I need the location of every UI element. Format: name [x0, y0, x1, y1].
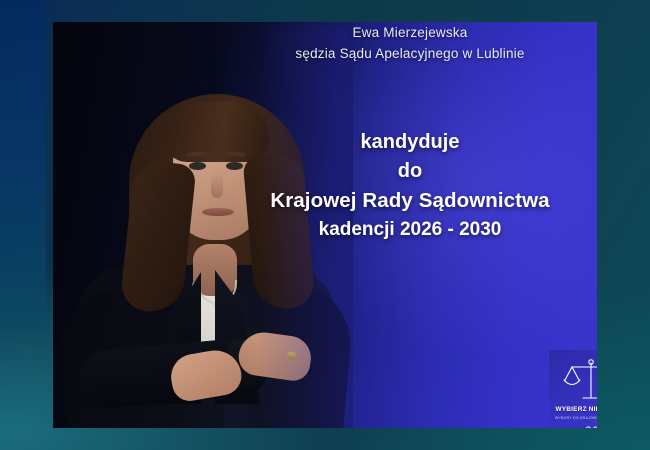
logo-title: WYBIERZ NIEZALEŻNOŚCI — [549, 406, 597, 413]
poster-frame: WYBIERZ NIEZALEŻNOŚCI WYBORY DO KRAJOWEJ… — [0, 0, 650, 450]
portrait-eye-left — [189, 162, 206, 170]
portrait-mouth — [202, 208, 234, 216]
campaign-headline: kandyduje do Krajowej Rady Sądownictwa k… — [238, 128, 582, 244]
logo-subtitle: WYBORY DO KRAJOWEJ RADY SĄDOWNICTWA — [549, 416, 597, 420]
headline-line-3: Krajowej Rady Sądownictwa — [238, 186, 582, 215]
headline-line-4: kadencji 2026 - 2030 — [238, 215, 582, 244]
portrait-nose — [211, 172, 223, 198]
candidate-role: sędzia Sądu Apelacyjnego w Lublinie — [250, 43, 570, 64]
headline-line-2: do — [238, 157, 582, 186]
candidate-header: Ewa Mierzejewska sędzia Sądu Apelacyjneg… — [250, 22, 570, 64]
campaign-logo: WYBIERZ NIEZALEŻNOŚCI WYBORY DO KRAJOWEJ… — [549, 350, 597, 428]
logo-year: 2026 — [549, 424, 597, 428]
candidate-name: Ewa Mierzejewska — [250, 22, 570, 43]
scales-of-justice-icon — [561, 354, 598, 406]
headline-line-1: kandyduje — [238, 128, 582, 157]
